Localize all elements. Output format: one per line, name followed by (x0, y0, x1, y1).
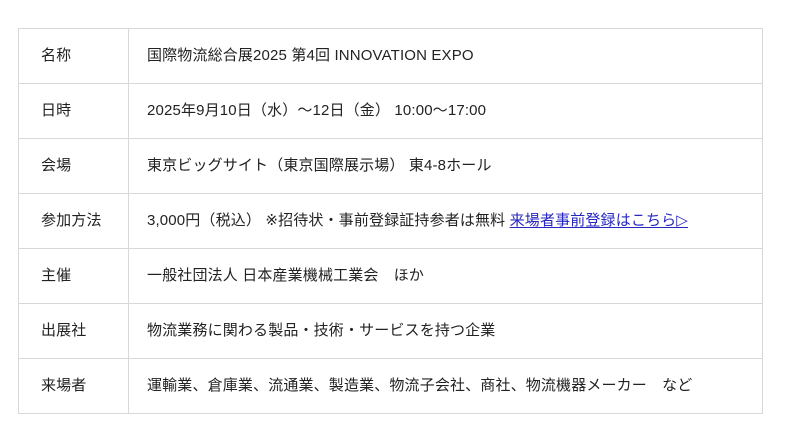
table-row: 主催 一般社団法人 日本産業機械工業会 ほか (19, 249, 763, 304)
table-row: 名称 国際物流総合展2025 第4回 INNOVATION EXPO (19, 29, 763, 84)
event-info-table-body: 名称 国際物流総合展2025 第4回 INNOVATION EXPO 日時 20… (19, 29, 763, 414)
row-label-organizer: 主催 (19, 249, 129, 304)
row-label-venue: 会場 (19, 139, 129, 194)
table-row: 参加方法 3,000円（税込） ※招待状・事前登録証持参者は無料 来場者事前登録… (19, 194, 763, 249)
row-label-participation: 参加方法 (19, 194, 129, 249)
table-row: 来場者 運輸業、倉庫業、流通業、製造業、物流子会社、商社、物流機器メーカー など (19, 359, 763, 414)
row-label-datetime: 日時 (19, 84, 129, 139)
table-row: 出展社 物流業務に関わる製品・技術・サービスを持つ企業 (19, 304, 763, 359)
row-label-name: 名称 (19, 29, 129, 84)
table-row: 日時 2025年9月10日（水）〜12日（金） 10:00〜17:00 (19, 84, 763, 139)
row-value-organizer: 一般社団法人 日本産業機械工業会 ほか (129, 249, 763, 304)
row-value-participation: 3,000円（税込） ※招待状・事前登録証持参者は無料 来場者事前登録はこちら▷ (129, 194, 763, 249)
row-label-exhibitors: 出展社 (19, 304, 129, 359)
participation-fee-text: 3,000円（税込） ※招待状・事前登録証持参者は無料 (147, 212, 510, 229)
table-row: 会場 東京ビッグサイト（東京国際展示場） 東4-8ホール (19, 139, 763, 194)
row-value-datetime: 2025年9月10日（水）〜12日（金） 10:00〜17:00 (129, 84, 763, 139)
row-label-visitors: 来場者 (19, 359, 129, 414)
row-value-venue: 東京ビッグサイト（東京国際展示場） 東4-8ホール (129, 139, 763, 194)
row-value-visitors: 運輸業、倉庫業、流通業、製造業、物流子会社、商社、物流機器メーカー など (129, 359, 763, 414)
page-root: 名称 国際物流総合展2025 第4回 INNOVATION EXPO 日時 20… (0, 0, 800, 439)
visitor-preregistration-link[interactable]: 来場者事前登録はこちら▷ (510, 212, 688, 229)
event-info-table: 名称 国際物流総合展2025 第4回 INNOVATION EXPO 日時 20… (18, 28, 763, 414)
row-value-name: 国際物流総合展2025 第4回 INNOVATION EXPO (129, 29, 763, 84)
row-value-exhibitors: 物流業務に関わる製品・技術・サービスを持つ企業 (129, 304, 763, 359)
